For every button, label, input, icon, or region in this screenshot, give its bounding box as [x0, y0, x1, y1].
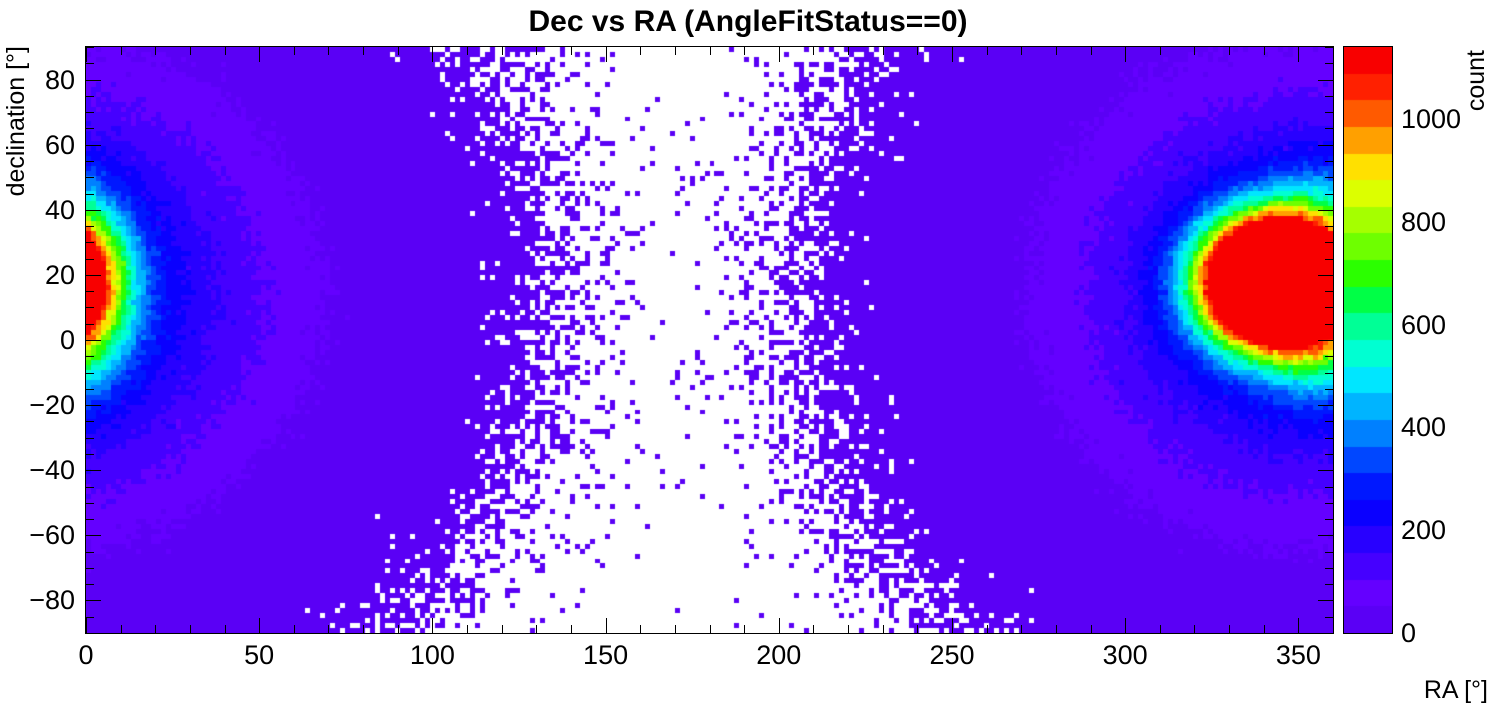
x-minor-tick: [536, 625, 537, 634]
x-major-tick: [432, 618, 433, 634]
x-minor-tick: [190, 625, 191, 634]
x-top-tick: [1021, 46, 1022, 55]
x-minor-tick: [917, 625, 918, 634]
x-minor-tick: [1264, 625, 1265, 634]
x-major-tick: [86, 618, 87, 634]
x-top-tick: [987, 46, 988, 55]
histogram-canvas: [86, 47, 1333, 633]
x-top-tick: [155, 46, 156, 55]
y-axis-title: declination [°]: [2, 46, 31, 196]
y-minor-tick: [85, 421, 94, 422]
colorbar: [1343, 46, 1393, 634]
x-top-tick: [883, 46, 884, 55]
colorbar-tick-label: 0: [1401, 618, 1416, 648]
x-top-tick: [363, 46, 364, 55]
x-top-tick: [675, 46, 676, 55]
x-top-tick: [1298, 46, 1299, 62]
y-right-tick: [1318, 405, 1334, 406]
y-right-tick: [1325, 194, 1334, 195]
x-top-tick: [225, 46, 226, 55]
x-minor-tick: [675, 625, 676, 634]
y-right-tick: [1325, 307, 1334, 308]
y-minor-tick: [85, 324, 94, 325]
y-minor-tick: [85, 177, 94, 178]
y-tick-label: 20: [0, 260, 75, 290]
plot-frame: [85, 46, 1334, 634]
y-right-tick: [1325, 584, 1334, 585]
y-minor-tick: [85, 503, 94, 504]
y-minor-tick: [85, 161, 94, 162]
y-tick-label: −80: [0, 585, 75, 615]
x-top-tick: [1264, 46, 1265, 55]
y-minor-tick: [85, 617, 94, 618]
x-minor-tick: [883, 625, 884, 634]
y-right-tick: [1325, 96, 1334, 97]
x-top-tick: [259, 46, 260, 62]
y-right-tick: [1325, 356, 1334, 357]
colorbar-tick-label: 600: [1401, 310, 1446, 340]
x-top-tick: [502, 46, 503, 55]
y-right-tick: [1318, 340, 1334, 341]
colorbar-gradient: [1344, 47, 1392, 633]
y-right-tick: [1325, 617, 1334, 618]
x-minor-tick: [363, 625, 364, 634]
x-top-tick: [848, 46, 849, 55]
x-minor-tick: [502, 625, 503, 634]
y-minor-tick: [85, 356, 94, 357]
y-tick-label: 0: [0, 325, 75, 355]
x-top-tick: [121, 46, 122, 55]
x-major-tick: [259, 618, 260, 634]
y-right-tick: [1325, 389, 1334, 390]
x-tick-label: 100: [410, 640, 455, 670]
x-top-tick: [917, 46, 918, 55]
y-minor-tick: [85, 584, 94, 585]
x-top-tick: [571, 46, 572, 55]
y-right-tick: [1318, 80, 1334, 81]
y-minor-tick: [85, 112, 94, 113]
y-right-tick: [1325, 291, 1334, 292]
y-minor-tick: [85, 373, 94, 374]
x-top-tick: [190, 46, 191, 55]
y-right-tick: [1325, 373, 1334, 374]
y-major-tick: [85, 275, 101, 276]
x-tick-label: 250: [929, 640, 974, 670]
y-major-tick: [85, 80, 101, 81]
x-top-tick: [86, 46, 87, 62]
y-right-tick: [1325, 128, 1334, 129]
y-right-tick: [1325, 259, 1334, 260]
y-right-tick: [1325, 552, 1334, 553]
x-minor-tick: [155, 625, 156, 634]
x-top-tick: [1194, 46, 1195, 55]
x-axis-title: RA [°]: [1424, 676, 1488, 705]
x-top-tick: [744, 46, 745, 55]
y-right-tick: [1325, 242, 1334, 243]
y-minor-tick: [85, 307, 94, 308]
x-minor-tick: [121, 625, 122, 634]
y-tick-label: −20: [0, 390, 75, 420]
x-top-tick: [640, 46, 641, 55]
x-minor-tick: [467, 625, 468, 634]
x-top-tick: [467, 46, 468, 55]
y-minor-tick: [85, 291, 94, 292]
x-tick-label: 0: [78, 640, 93, 670]
x-top-tick: [1056, 46, 1057, 55]
x-top-tick: [294, 46, 295, 55]
y-right-tick: [1325, 63, 1334, 64]
x-minor-tick: [987, 625, 988, 634]
x-top-tick: [398, 46, 399, 55]
x-minor-tick: [328, 625, 329, 634]
x-minor-tick: [398, 625, 399, 634]
x-minor-tick: [1056, 625, 1057, 634]
x-minor-tick: [571, 625, 572, 634]
x-tick-label: 150: [583, 640, 628, 670]
y-minor-tick: [85, 242, 94, 243]
y-right-tick: [1325, 47, 1334, 48]
y-right-tick: [1325, 324, 1334, 325]
x-top-tick: [1160, 46, 1161, 55]
y-right-tick: [1318, 600, 1334, 601]
y-minor-tick: [85, 259, 94, 260]
y-right-tick: [1318, 145, 1334, 146]
y-right-tick: [1318, 210, 1334, 211]
y-minor-tick: [85, 633, 94, 634]
y-major-tick: [85, 470, 101, 471]
x-minor-tick: [1091, 625, 1092, 634]
x-minor-tick: [710, 625, 711, 634]
colorbar-tick-label: 400: [1401, 412, 1446, 442]
x-minor-tick: [744, 625, 745, 634]
page-title: Dec vs RA (AngleFitStatus==0): [0, 2, 1496, 42]
x-tick-label: 50: [244, 640, 274, 670]
y-right-tick: [1325, 487, 1334, 488]
y-minor-tick: [85, 552, 94, 553]
y-right-tick: [1325, 503, 1334, 504]
y-minor-tick: [85, 96, 94, 97]
x-tick-label: 200: [756, 640, 801, 670]
x-top-tick: [710, 46, 711, 55]
y-minor-tick: [85, 226, 94, 227]
x-minor-tick: [294, 625, 295, 634]
y-right-tick: [1325, 161, 1334, 162]
y-right-tick: [1325, 226, 1334, 227]
x-top-tick: [813, 46, 814, 55]
x-top-tick: [328, 46, 329, 55]
x-top-tick: [432, 46, 433, 62]
y-major-tick: [85, 405, 101, 406]
x-top-tick: [1229, 46, 1230, 55]
x-minor-tick: [813, 625, 814, 634]
colorbar-tick-label: 200: [1401, 515, 1446, 545]
y-right-tick: [1325, 177, 1334, 178]
colorbar-title: count: [1462, 50, 1491, 111]
y-right-tick: [1318, 275, 1334, 276]
x-top-tick: [952, 46, 953, 62]
y-minor-tick: [85, 568, 94, 569]
x-minor-tick: [1229, 625, 1230, 634]
x-top-tick: [606, 46, 607, 62]
x-top-tick: [1125, 46, 1126, 62]
y-major-tick: [85, 340, 101, 341]
y-tick-label: 40: [0, 195, 75, 225]
x-minor-tick: [848, 625, 849, 634]
y-minor-tick: [85, 63, 94, 64]
x-major-tick: [779, 618, 780, 634]
x-tick-label: 350: [1276, 640, 1321, 670]
y-right-tick: [1325, 519, 1334, 520]
y-right-tick: [1325, 421, 1334, 422]
y-right-tick: [1318, 470, 1334, 471]
colorbar-tick-label: 800: [1401, 207, 1446, 237]
x-top-tick: [536, 46, 537, 55]
root-canvas-pad: Dec vs RA (AngleFitStatus==0) 0501001502…: [0, 0, 1496, 722]
x-minor-tick: [1021, 625, 1022, 634]
x-tick-label: 300: [1103, 640, 1148, 670]
x-top-tick: [1091, 46, 1092, 55]
y-minor-tick: [85, 454, 94, 455]
x-major-tick: [952, 618, 953, 634]
x-minor-tick: [225, 625, 226, 634]
y-right-tick: [1325, 112, 1334, 113]
x-minor-tick: [640, 625, 641, 634]
y-right-tick: [1325, 633, 1334, 634]
x-minor-tick: [1194, 625, 1195, 634]
y-tick-label: −40: [0, 455, 75, 485]
x-minor-tick: [1160, 625, 1161, 634]
y-minor-tick: [85, 128, 94, 129]
colorbar-tick-label: 1000: [1401, 104, 1461, 134]
y-right-tick: [1325, 454, 1334, 455]
y-minor-tick: [85, 194, 94, 195]
y-minor-tick: [85, 47, 94, 48]
y-major-tick: [85, 600, 101, 601]
y-right-tick: [1318, 535, 1334, 536]
y-minor-tick: [85, 519, 94, 520]
x-major-tick: [1298, 618, 1299, 634]
x-major-tick: [606, 618, 607, 634]
y-right-tick: [1325, 568, 1334, 569]
y-major-tick: [85, 210, 101, 211]
y-minor-tick: [85, 438, 94, 439]
y-minor-tick: [85, 389, 94, 390]
y-tick-label: −60: [0, 520, 75, 550]
x-major-tick: [1125, 618, 1126, 634]
x-top-tick: [779, 46, 780, 62]
y-major-tick: [85, 535, 101, 536]
y-minor-tick: [85, 487, 94, 488]
y-major-tick: [85, 145, 101, 146]
y-right-tick: [1325, 438, 1334, 439]
